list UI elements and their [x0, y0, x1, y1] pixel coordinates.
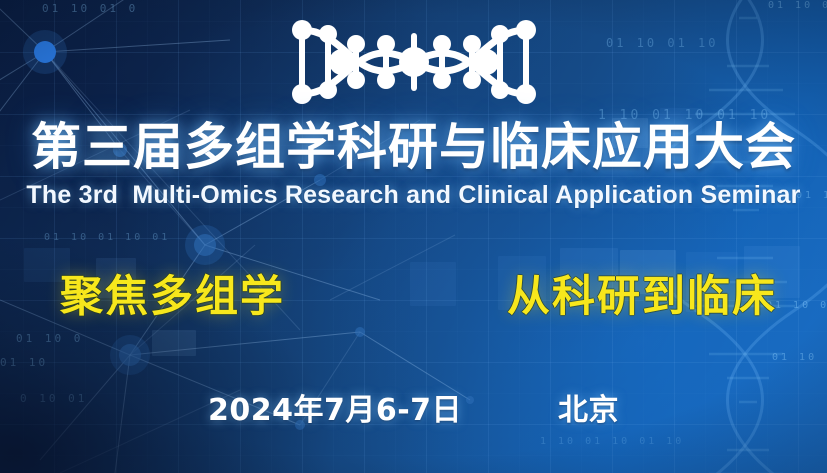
binary-strip: 01 10	[0, 356, 48, 369]
binary-strip: 01 10 0	[16, 332, 83, 345]
slogan-left: 聚焦多组学	[60, 276, 285, 319]
binary-strip: 1 10 01 10 01 10	[540, 436, 684, 447]
page-subtitle: The 3rd Multi-Omics Research and Clinica…	[0, 183, 827, 208]
page-title: 第三届多组学科研与临床应用大会	[0, 122, 827, 172]
binary-strip: 01 10 01 10 01	[44, 232, 170, 243]
slogan-right: 从科研到临床	[507, 276, 777, 319]
dna-helix-icon	[288, 14, 540, 110]
conference-banner: 01 10 01 0 01 10 01 10 1 10 01 10 01 10 …	[0, 0, 827, 473]
slogan-row: 聚焦多组学 从科研到临床	[60, 276, 777, 319]
binary-strip: 01 10 01 0	[42, 2, 138, 15]
event-details: 2024年7月6-7日 北京	[0, 396, 827, 426]
event-location: 北京	[558, 396, 619, 426]
event-date: 2024年7月6-7日	[208, 396, 462, 426]
